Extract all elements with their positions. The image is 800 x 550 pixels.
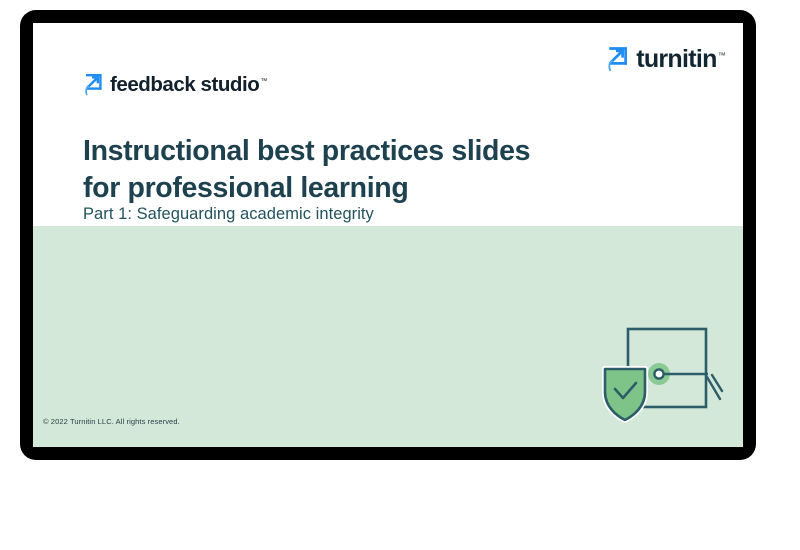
shield-with-checkmark <box>605 369 645 420</box>
feedback-studio-logo: feedback studio™ <box>83 73 267 97</box>
slide-title: Instructional best practices slides for … <box>83 133 613 207</box>
copyright-notice: © 2022 Turnitin LLC. All rights reserved… <box>43 417 180 426</box>
turnitin-wordmark: turnitin™ <box>636 47 725 72</box>
feedback-studio-trademark: ™ <box>260 78 267 85</box>
slide-canvas: feedback studio™ turnitin™ Instructional… <box>33 23 743 447</box>
turnitin-logo: turnitin™ <box>606 46 725 73</box>
slide-subtitle: Part 1: Safeguarding academic integrity <box>83 205 374 224</box>
feedback-studio-arrow-mark-icon <box>83 73 103 97</box>
turnitin-arrow-mark-icon <box>606 46 629 73</box>
target-dot-circle <box>654 369 663 378</box>
turnitin-wordmark-text: turnitin <box>636 45 716 73</box>
slide-title-line-2: for professional learning <box>83 170 613 207</box>
device-screen-frame: feedback studio™ turnitin™ Instructional… <box>20 10 756 460</box>
feedback-studio-wordmark-text: feedback studio <box>110 73 259 96</box>
motion-stroke-1 <box>707 377 720 399</box>
shield-document-integrity-illustration <box>600 319 730 425</box>
slide-title-line-1: Instructional best practices slides <box>83 133 613 170</box>
turnitin-trademark: ™ <box>718 51 725 60</box>
feedback-studio-wordmark: feedback studio™ <box>110 75 267 96</box>
